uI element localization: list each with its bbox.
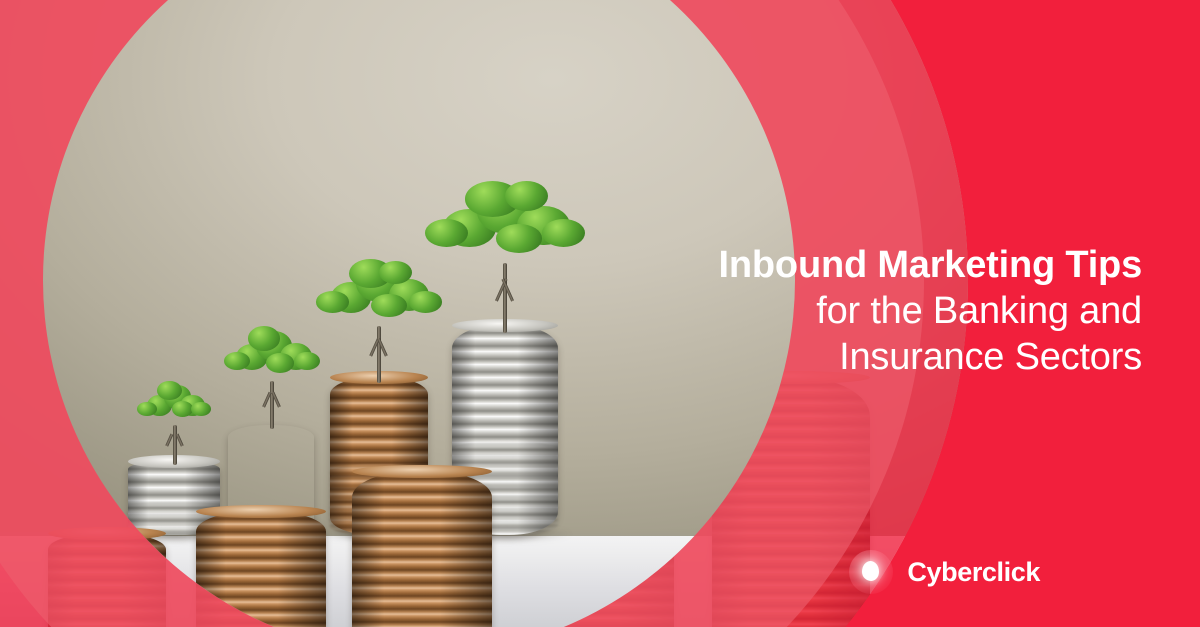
tree-2 xyxy=(222,325,322,429)
coin-stack-foreground-1 xyxy=(48,533,166,627)
headline-line-3: Insurance Sectors xyxy=(622,334,1142,380)
social-share-banner: Inbound Marketing Tips for the Banking a… xyxy=(0,0,1200,627)
logo-wordmark: Cyberclick xyxy=(907,559,1040,586)
tree-canopy xyxy=(428,181,582,275)
headline-line-1: Inbound Marketing Tips xyxy=(622,242,1142,288)
cyberclick-dot-icon xyxy=(849,550,893,594)
coin-stack-body xyxy=(712,377,870,627)
tree-3 xyxy=(316,259,442,383)
tree-trunk xyxy=(270,381,274,429)
coin-stack-foreground-3 xyxy=(352,471,492,627)
tree-1 xyxy=(134,379,216,465)
tree-canopy xyxy=(316,259,442,336)
tree-trunk xyxy=(377,326,381,383)
cyberclick-logo[interactable]: Cyberclick xyxy=(849,550,1040,594)
banner-headline: Inbound Marketing Tips for the Banking a… xyxy=(622,242,1142,380)
tree-trunk xyxy=(173,425,177,465)
coin-stack-body xyxy=(196,511,326,627)
coin-stack-foreground-4 xyxy=(524,423,674,627)
coin-stack-body xyxy=(524,423,674,627)
headline-line-2: for the Banking and xyxy=(622,288,1142,334)
tree-trunk xyxy=(503,263,507,333)
coin-stack-body xyxy=(352,471,492,627)
tree-4 xyxy=(428,181,582,333)
coin-stack-foreground-5 xyxy=(712,377,870,627)
tree-canopy xyxy=(134,379,216,432)
coin-stack-foreground-2 xyxy=(196,511,326,627)
tree-canopy xyxy=(222,325,322,389)
coin-stack-body xyxy=(48,533,166,627)
